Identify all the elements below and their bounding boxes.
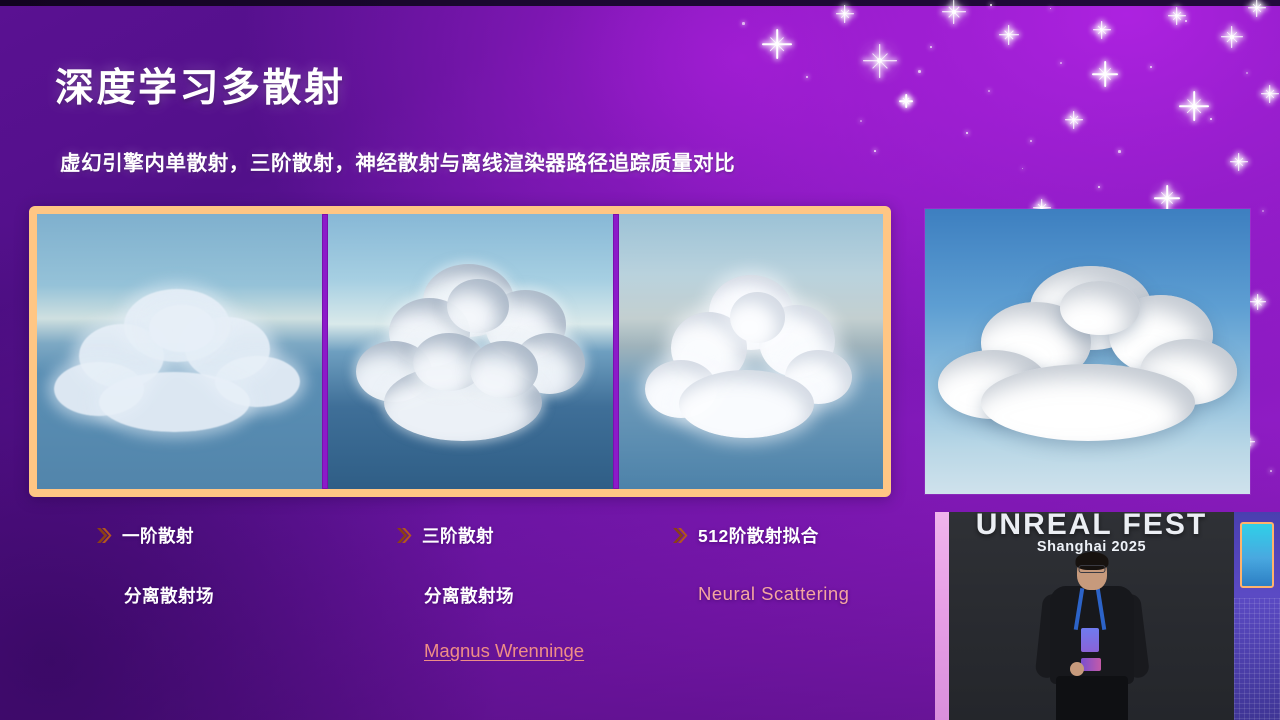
reference-link-magnus-wrenninge[interactable]: Magnus Wrenninge — [424, 638, 584, 664]
chevron-right-icon — [396, 527, 412, 544]
page-title: 深度学习多散射 — [55, 66, 346, 113]
stage-side-grid — [1234, 598, 1280, 720]
single-scatter-render-panel — [37, 214, 322, 489]
stage-light-strip — [935, 512, 949, 720]
reference-cloud-photo — [925, 209, 1250, 494]
presenter-video-feed: UNREAL FEST Shanghai 2025 — [935, 512, 1280, 720]
caption-column-single-scatter: 一阶散射 分离散射场 — [96, 523, 386, 608]
caption-heading-row: 三阶散射 — [396, 523, 666, 548]
reference-cloud-shape — [938, 266, 1244, 448]
chevron-right-icon — [672, 527, 688, 544]
cloud-render-neural — [645, 275, 856, 446]
page-subtitle: 虚幻引擎内单散射，三阶散射，神经散射与离线渲染器路径追踪质量对比 — [60, 150, 735, 178]
caption-neural-label: Neural Scattering — [698, 583, 962, 605]
comparison-image-frame — [29, 206, 891, 497]
event-banner-title: UNREAL FEST — [949, 512, 1234, 542]
caption-column-neural: 512阶散射拟合 Neural Scattering — [672, 523, 962, 605]
caption-subtext: 分离散射场 — [124, 583, 386, 608]
caption-heading: 三阶散射 — [422, 523, 494, 548]
caption-heading-row: 512阶散射拟合 — [672, 523, 962, 548]
presenter-silhouette — [1037, 550, 1147, 720]
neural-scatter-render-panel — [619, 214, 883, 489]
caption-heading: 一阶散射 — [122, 523, 194, 548]
third-order-scatter-render-panel — [328, 214, 613, 489]
cloud-render-third-order — [351, 264, 590, 457]
cloud-render-single-scatter — [54, 286, 305, 446]
chevron-right-icon — [96, 527, 112, 544]
stage-side-card — [1240, 522, 1274, 588]
presentation-slide: 深度学习多散射 虚幻引擎内单散射，三阶散射，神经散射与离线渲染器路径追踪质量对比 — [0, 0, 1280, 720]
top-letterbox-bar — [0, 0, 1280, 6]
caption-heading: 512阶散射拟合 — [698, 523, 819, 548]
stage-backdrop-screen: UNREAL FEST Shanghai 2025 — [949, 512, 1234, 720]
caption-heading-row: 一阶散射 — [96, 523, 386, 548]
stage-side-panel — [1234, 512, 1280, 720]
caption-subtext: 分离散射场 — [424, 583, 666, 608]
caption-column-third-order: 三阶散射 分离散射场 Magnus Wrenninge — [396, 523, 666, 664]
